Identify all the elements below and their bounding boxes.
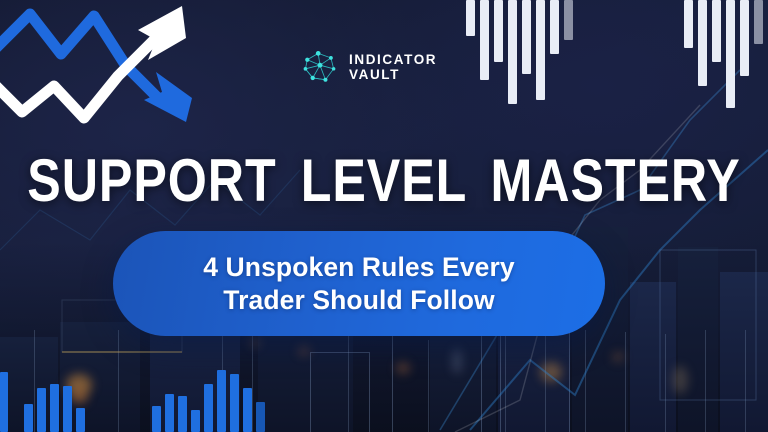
subtitle-text: 4 Unspoken Rules Every Trader Should Fol… xyxy=(181,251,537,317)
subtitle-line1: 4 Unspoken Rules Every xyxy=(203,252,515,282)
brand-logo[interactable]: INDICATOR VAULT xyxy=(300,47,437,87)
network-node-logo-icon xyxy=(300,47,340,87)
logo-text-line1: INDICATOR xyxy=(349,52,437,67)
trend-arrows xyxy=(0,0,256,144)
logo-text-line2: VAULT xyxy=(349,67,437,82)
promo-banner: INDICATOR VAULT SUPPORT LEVEL MASTERY 4 … xyxy=(0,0,768,432)
subtitle-line2: Trader Should Follow xyxy=(203,284,515,317)
subtitle-pill: 4 Unspoken Rules Every Trader Should Fol… xyxy=(113,231,605,336)
page-title: SUPPORT LEVEL MASTERY xyxy=(27,146,741,215)
